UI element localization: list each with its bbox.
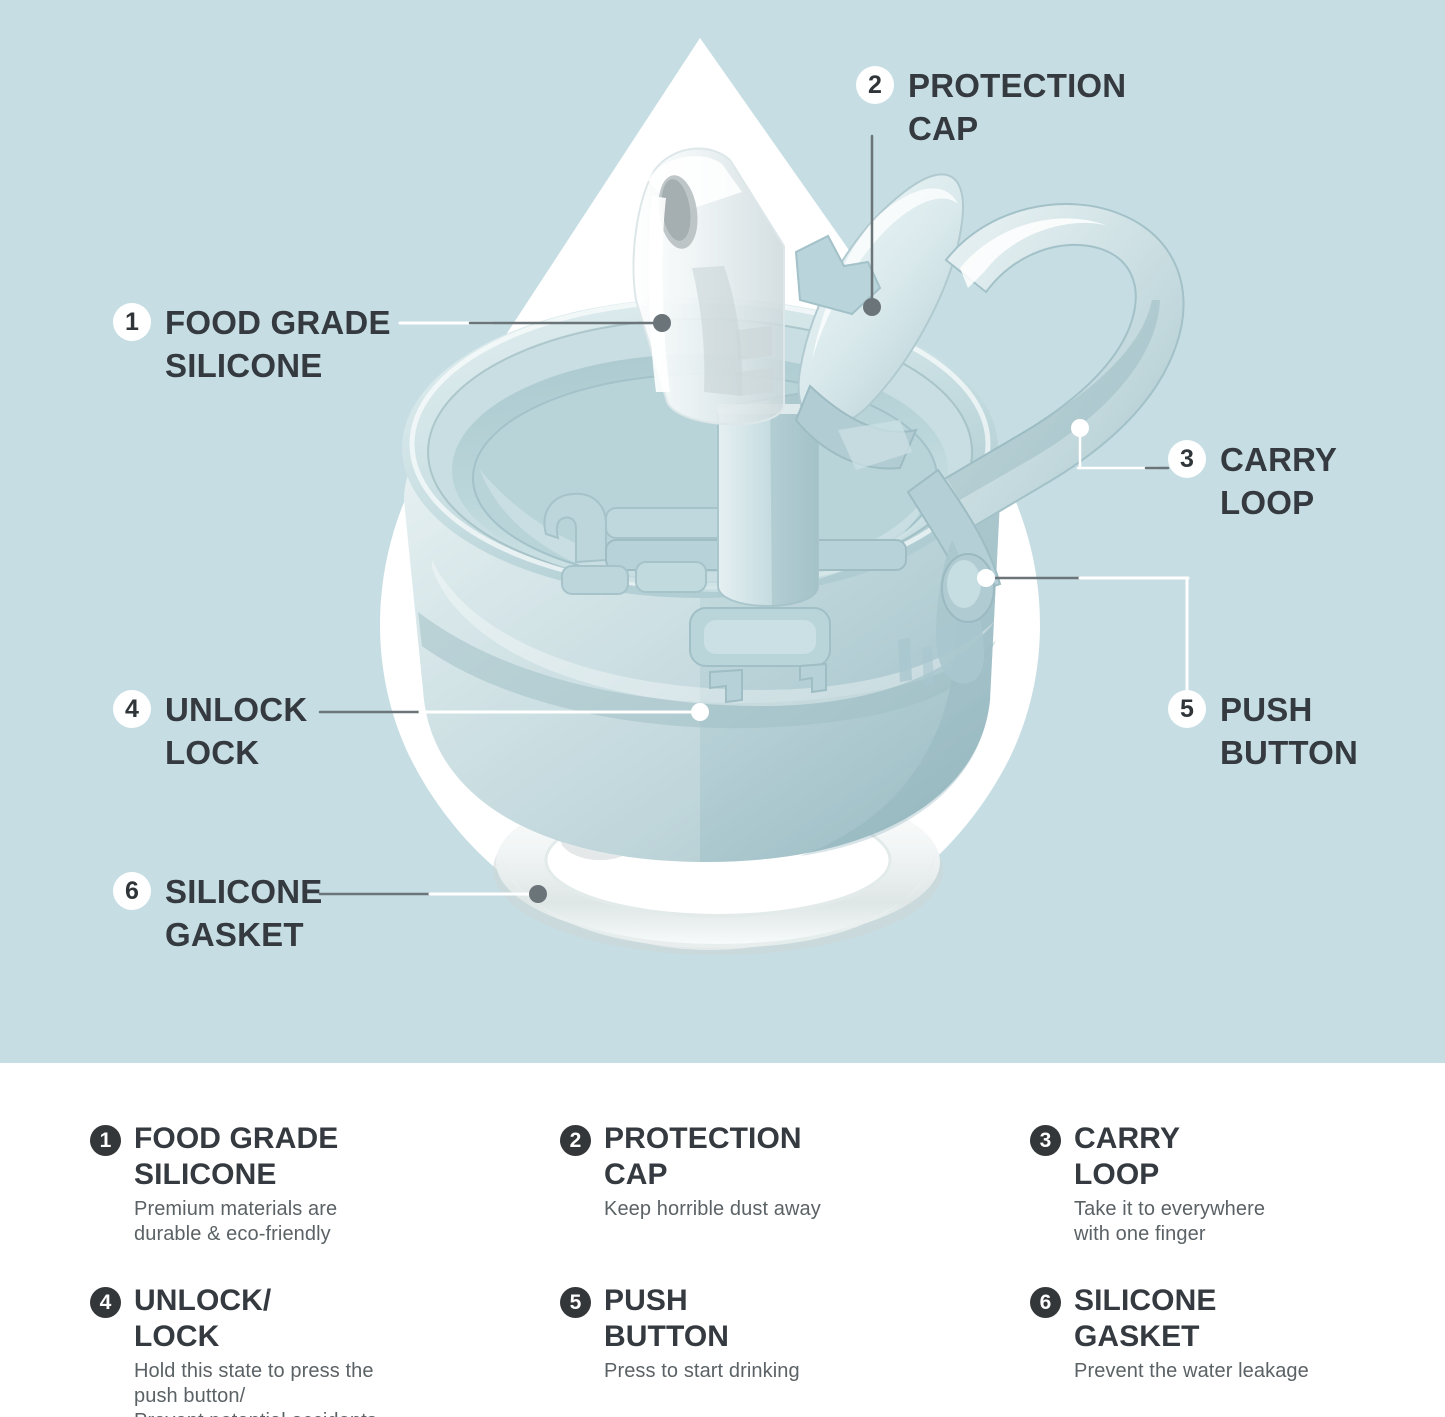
legend-title-6: SILICONE GASKET — [1074, 1283, 1309, 1355]
hero-panel: 1 FOOD GRADE SILICONE 2 PROTECTION CAP 3… — [0, 0, 1445, 1063]
callout-label-3: CARRY LOOP — [1220, 438, 1337, 524]
legend-desc-1: Premium materials are durable & eco-frie… — [134, 1197, 338, 1247]
legend-panel: 1 FOOD GRADE SILICONE Premium materials … — [0, 1063, 1445, 1417]
legend-item-carry-loop: 3 CARRY LOOP Take it to everywhere with … — [1030, 1121, 1420, 1247]
callout-badge-2: 2 — [856, 66, 894, 104]
callout-label-2: PROTECTION CAP — [908, 64, 1126, 150]
callout-label-4: UNLOCK LOCK — [165, 688, 307, 774]
legend-item-food-grade-silicone: 1 FOOD GRADE SILICONE Premium materials … — [90, 1121, 560, 1247]
callout-badge-4: 4 — [113, 690, 151, 728]
legend-badge-3: 3 — [1030, 1125, 1061, 1156]
legend-badge-2: 2 — [560, 1125, 591, 1156]
callout-carry-loop: 3 CARRY LOOP — [1168, 440, 1337, 524]
legend-body-2: PROTECTION CAP Keep horrible dust away — [604, 1121, 821, 1222]
callout-protection-cap: 2 PROTECTION CAP — [856, 66, 1126, 150]
legend-body-3: CARRY LOOP Take it to everywhere with on… — [1074, 1121, 1265, 1247]
callout-food-grade-silicone: 1 FOOD GRADE SILICONE — [113, 303, 391, 387]
legend-title-4: UNLOCK/ LOCK — [134, 1283, 377, 1355]
callout-badge-1: 1 — [113, 303, 151, 341]
legend-badge-6: 6 — [1030, 1287, 1061, 1318]
legend-title-3: CARRY LOOP — [1074, 1121, 1265, 1193]
legend-title-1: FOOD GRADE SILICONE — [134, 1121, 338, 1193]
callout-badge-3: 3 — [1168, 440, 1206, 478]
legend-desc-6: Prevent the water leakage — [1074, 1359, 1309, 1384]
callout-silicone-gasket: 6 SILICONE GASKET — [113, 872, 322, 956]
legend-body-6: SILICONE GASKET Prevent the water leakag… — [1074, 1283, 1309, 1384]
push-button — [942, 554, 994, 622]
callout-unlock-lock: 4 UNLOCK LOCK — [113, 690, 307, 774]
callout-label-1: FOOD GRADE SILICONE — [165, 301, 391, 387]
legend-item-push-button: 5 PUSH BUTTON Press to start drinking — [560, 1283, 1030, 1417]
legend-body-1: FOOD GRADE SILICONE Premium materials ar… — [134, 1121, 338, 1247]
callout-push-button: 5 PUSH BUTTON — [1168, 690, 1358, 774]
legend-body-5: PUSH BUTTON Press to start drinking — [604, 1283, 800, 1384]
callout-badge-6: 6 — [113, 872, 151, 910]
legend-desc-2: Keep horrible dust away — [604, 1197, 821, 1222]
callout-label-5: PUSH BUTTON — [1220, 688, 1358, 774]
legend-badge-4: 4 — [90, 1287, 121, 1318]
legend-title-5: PUSH BUTTON — [604, 1283, 800, 1355]
legend-badge-5: 5 — [560, 1287, 591, 1318]
callout-badge-5: 5 — [1168, 690, 1206, 728]
legend-desc-5: Press to start drinking — [604, 1359, 800, 1384]
legend-body-4: UNLOCK/ LOCK Hold this state to press th… — [134, 1283, 377, 1417]
legend-desc-4: Hold this state to press the push button… — [134, 1359, 377, 1417]
legend-item-unlock-lock: 4 UNLOCK/ LOCK Hold this state to press … — [90, 1283, 560, 1417]
legend-title-2: PROTECTION CAP — [604, 1121, 821, 1193]
legend-badge-1: 1 — [90, 1125, 121, 1156]
legend-grid: 1 FOOD GRADE SILICONE Premium materials … — [90, 1121, 1420, 1417]
product-feature-infographic: 1 FOOD GRADE SILICONE 2 PROTECTION CAP 3… — [0, 0, 1445, 1417]
legend-desc-3: Take it to everywhere with one finger — [1074, 1197, 1265, 1247]
callout-label-6: SILICONE GASKET — [165, 870, 322, 956]
legend-item-silicone-gasket: 6 SILICONE GASKET Prevent the water leak… — [1030, 1283, 1420, 1417]
legend-item-protection-cap: 2 PROTECTION CAP Keep horrible dust away — [560, 1121, 1030, 1247]
